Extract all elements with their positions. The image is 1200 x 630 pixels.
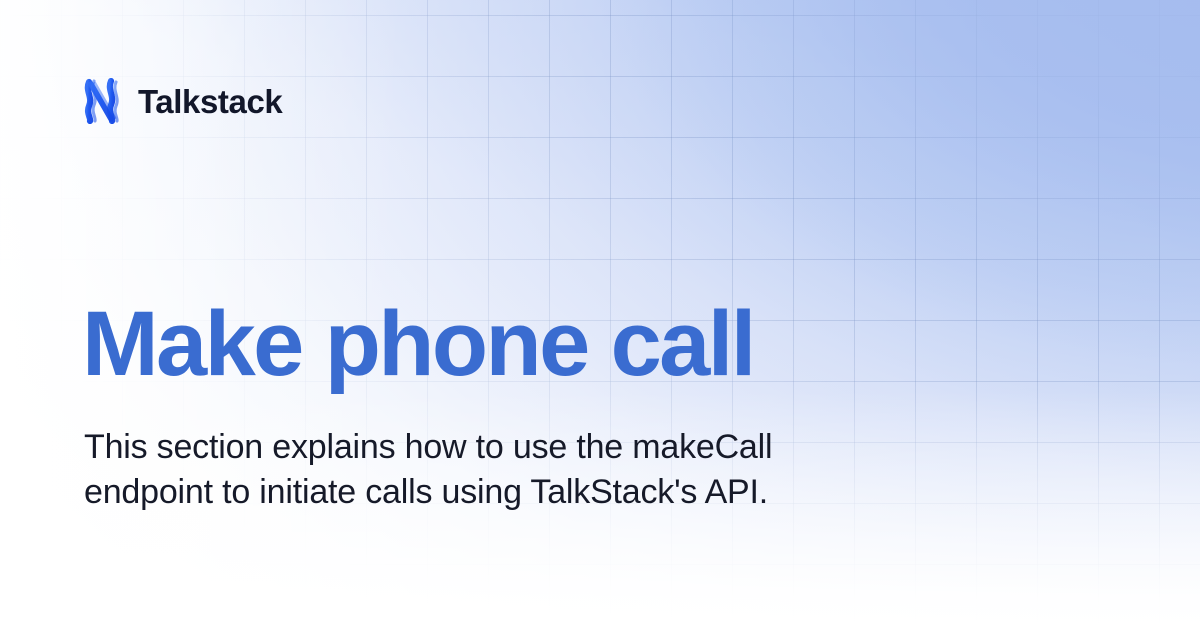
page-description: This section explains how to use the mak…: [84, 425, 784, 515]
talkstack-wave-logo-icon: [82, 78, 124, 124]
page-title: Make phone call: [82, 298, 754, 390]
og-card: Talkstack Make phone call This section e…: [0, 0, 1200, 630]
card-content: Talkstack Make phone call This section e…: [0, 0, 1200, 630]
brand-name: Talkstack: [138, 85, 282, 118]
brand-lockup[interactable]: Talkstack: [82, 78, 282, 124]
